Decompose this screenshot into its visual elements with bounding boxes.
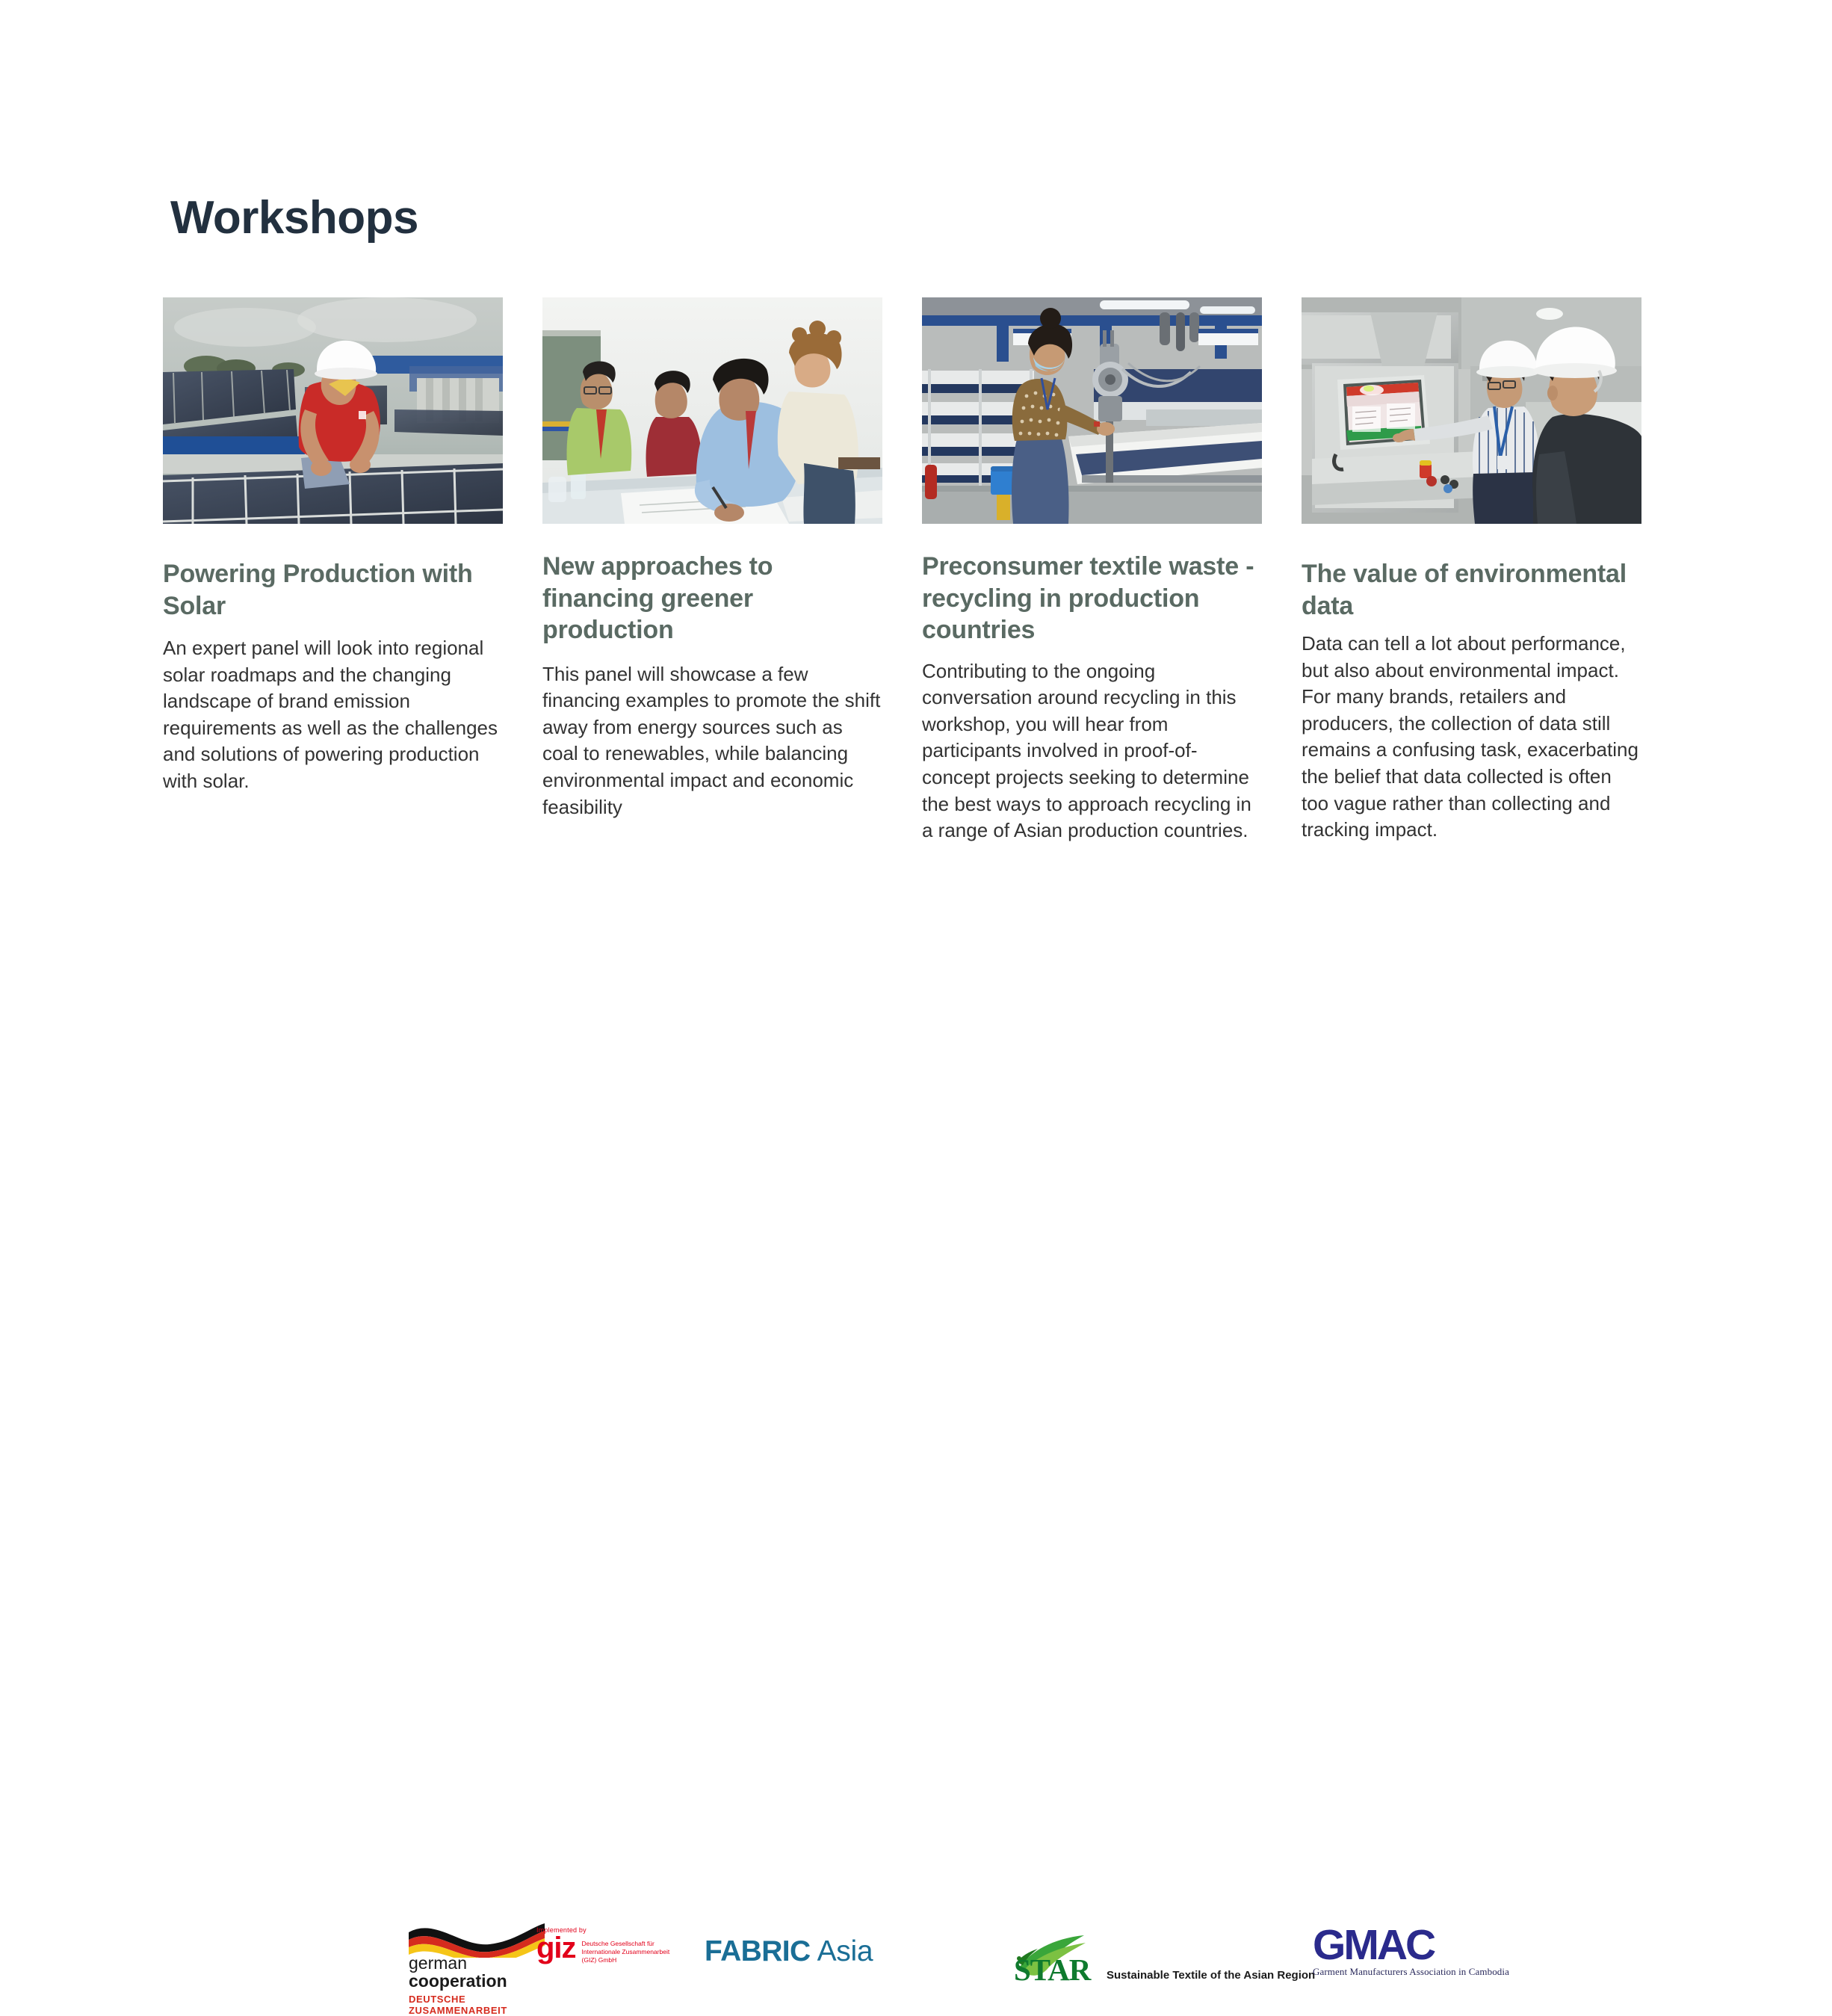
workshop-image-solar [163,297,503,524]
fabric-asia-suffix: Asia [817,1935,873,1968]
workshop-image-financing [542,297,882,524]
german-cooperation-line1: german [409,1955,548,1972]
logo-star: STAR Sustainable Textile of the Asian Re… [1012,1934,1315,1986]
german-cooperation-line2: cooperation [409,1972,548,1990]
workshop-image-environmental-data [1302,297,1641,524]
workshop-body-3: Contributing to the ongoing conversation… [922,658,1262,844]
logo-german-cooperation: german cooperation DEUTSCHE ZUSAMMENARBE… [406,1922,548,2000]
page-title: Workshops [170,193,418,244]
star-tagline: Sustainable Textile of the Asian Region [1107,1969,1315,1982]
gmac-wordmark: GMAC [1313,1925,1509,1965]
workshop-card-1: Powering Production with Solar An expert… [163,297,503,844]
logo-giz: Implemented by giz Deutsche Gesellschaft… [536,1926,672,1964]
fabric-wordmark: FABRIC [705,1935,811,1968]
giz-wordmark: giz [536,1935,576,1961]
workshop-body-1: An expert panel will look into regional … [163,635,503,795]
logo-fabric-asia: FABRIC Asia [705,1935,873,1968]
workshop-title-4: The value of environmental data [1302,558,1641,622]
star-leaf-icon: STAR [1012,1934,1102,1986]
workshop-body-2: This panel will showcase a few financing… [542,661,882,821]
workshop-columns: Powering Production with Solar An expert… [163,297,1657,844]
workshop-card-3: Preconsumer textile waste - recycling in… [922,297,1262,844]
gmac-tagline: Garment Manufacturers Association in Cam… [1313,1966,1509,1978]
workshop-title-2: New approaches to financing greener prod… [542,551,882,646]
workshop-image-textile-waste [922,297,1262,524]
workshop-title-1: Powering Production with Solar [163,558,503,622]
giz-implemented-by: Implemented by [536,1926,672,1934]
german-flag-wave-icon [406,1922,548,1958]
workshop-card-4: The value of environmental data Data can… [1302,297,1641,844]
slide-canvas: Workshops [0,0,1832,1142]
workshop-title-3: Preconsumer textile waste - recycling in… [922,551,1262,646]
star-wordmark: STAR [1014,1952,1090,1988]
giz-description: Deutsche Gesellschaft für Internationale… [582,1935,672,1964]
logo-gmac: GMAC Garment Manufacturers Association i… [1313,1925,1509,1978]
workshop-card-2: New approaches to financing greener prod… [542,297,882,844]
partner-logo-strip: german cooperation DEUTSCHE ZUSAMMENARBE… [0,950,1832,1070]
workshop-body-4: Data can tell a lot about performance, b… [1302,631,1641,844]
german-cooperation-line3: DEUTSCHE ZUSAMMENARBEIT [409,1994,548,2016]
